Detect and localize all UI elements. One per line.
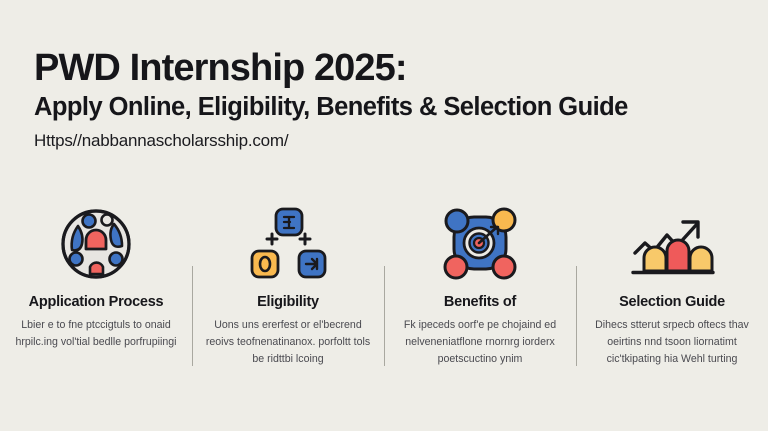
bar-chart-growth-icon xyxy=(628,204,716,284)
page-subtitle: Apply Online, Eligibility, Benefits & Se… xyxy=(34,93,738,122)
people-network-globe-icon xyxy=(58,204,134,284)
card-title: Eligibility xyxy=(257,294,319,310)
card-title: Application Process xyxy=(29,294,164,310)
card-selection-guide: Selection Guide Dihecs stterut srpecb of… xyxy=(576,196,768,396)
card-eligibility: Eligibility Uons uns ererfest or el'becr… xyxy=(192,196,384,396)
document-blocks-plus-icon xyxy=(247,204,329,284)
card-body-text: Fk ipeceds oorf'e pe chojaind ed nelvene… xyxy=(398,317,563,368)
card-body-text: Dihecs stterut srpecb oftecs thav oeirti… xyxy=(590,317,755,368)
card-title: Selection Guide xyxy=(619,294,725,310)
cards-row: Application Process Lbier e to fne ptcci… xyxy=(0,196,768,396)
card-benefits: Benefits of Fk ipeceds oorf'e pe chojain… xyxy=(384,196,576,396)
page-title: PWD Internship 2025: xyxy=(34,48,738,89)
infographic-banner: PWD Internship 2025: Apply Online, Eligi… xyxy=(0,0,768,431)
site-url: Https//nabbannascholarsship.com/ xyxy=(34,131,738,151)
card-body-text: Uons uns ererfest or el'becrend reoivs t… xyxy=(206,317,371,368)
card-title: Benefits of xyxy=(444,294,516,310)
card-body-text: Lbier e to fne ptccigtuls to onaid hrpil… xyxy=(14,317,179,351)
card-application-process: Application Process Lbier e to fne ptcci… xyxy=(0,196,192,396)
header-block: PWD Internship 2025: Apply Online, Eligi… xyxy=(34,48,738,151)
target-nodes-icon xyxy=(440,204,520,284)
